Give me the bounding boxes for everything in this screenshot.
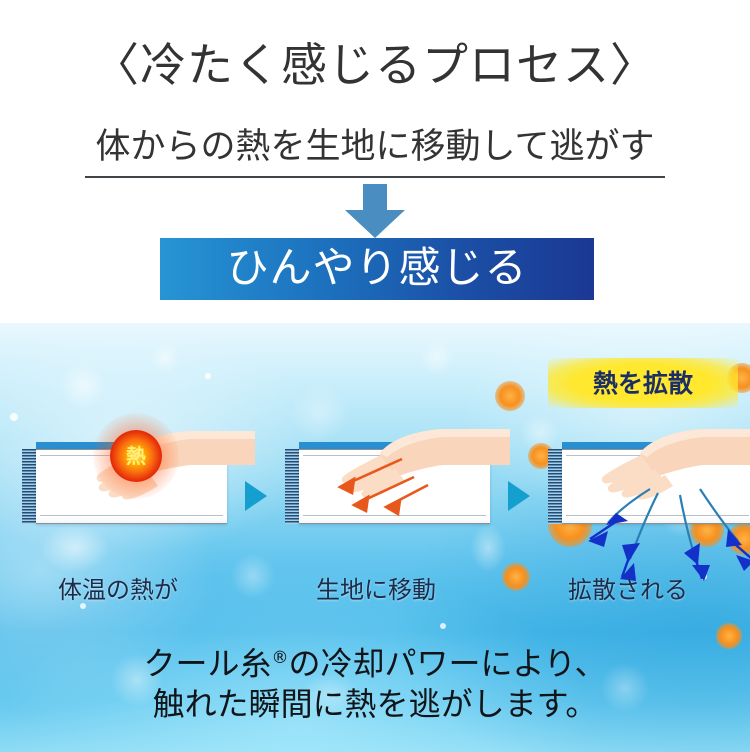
heat-particle-icon [495,381,525,411]
fabric-cut-edge-icon [285,449,299,524]
bokeh-dot [420,341,454,375]
registered-mark-icon: ® [271,648,288,668]
down-arrow-icon [335,184,415,238]
step-2-caption: 生地に移動 [316,576,436,604]
step-separator-triangle-icon [245,481,267,511]
bokeh-dot [520,413,560,453]
footer-line-2: 触れた瞬間に熱を逃がします。 [0,682,750,726]
footer-line-1-post: の冷却パワーにより、 [288,645,606,683]
result-banner-label: ひんやり感じる [226,247,527,292]
bokeh-dot [470,523,506,573]
top-section: 〈冷たく感じるプロセス〉 体からの熱を生地に移動して逃がす ひんやり感じる [0,0,750,323]
page-title: 〈冷たく感じるプロセス〉 [0,36,750,94]
subtitle-underline [85,176,665,178]
blue-diffusion-arrows-icon [530,473,750,593]
bokeh-dot [60,363,106,409]
diffuse-heat-badge: 熱を拡散 [548,358,738,408]
footer-line-1-pre: クール糸 [143,645,271,683]
step-3-caption: 拡散される [568,576,688,604]
orange-transfer-arrows-icon [310,449,490,529]
bokeh-dot [10,413,18,421]
result-banner: ひんやり感じる [160,238,594,300]
subtitle: 体からの熱を生地に移動して逃がす [0,124,750,170]
infographic-root: 〈冷たく感じるプロセス〉 体からの熱を生地に移動して逃がす ひんやり感じる [0,0,750,752]
heat-badge-label: 熱 [126,446,146,466]
diffuse-heat-badge-label: 熱を拡散 [593,371,693,396]
step-1-caption: 体温の熱が [58,576,178,604]
bokeh-dot [150,343,180,373]
fabric-cut-edge-icon [22,449,36,524]
footer-line-1: クール糸®の冷却パワーにより、 [0,636,750,686]
heat-badge: 熱 [110,430,162,482]
heat-particle-icon [502,563,530,591]
bokeh-dot [205,373,211,379]
step-separator-triangle-icon [508,481,530,511]
bokeh-dot [40,523,110,573]
bokeh-dot [230,553,276,599]
bokeh-dot [440,623,446,629]
